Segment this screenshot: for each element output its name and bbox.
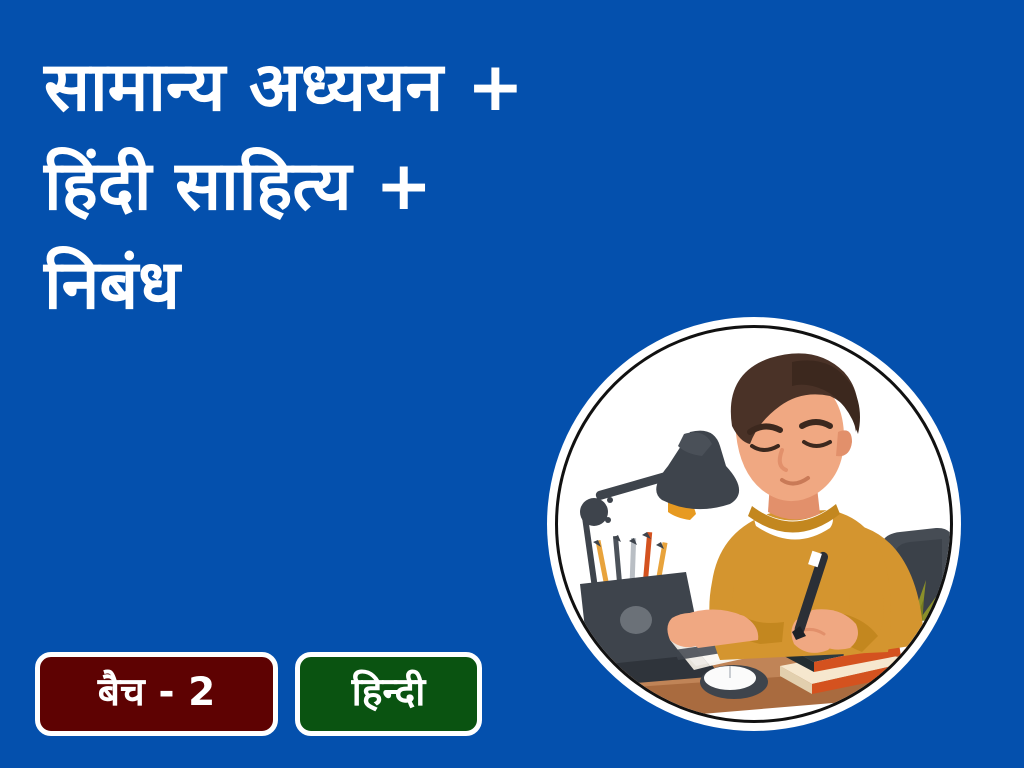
student-studying-illustration (544, 314, 964, 734)
title-line-1: सामान्य अध्ययन + (44, 44, 564, 131)
status-badge-language: हिन्दी (295, 652, 482, 736)
illustration-scene (544, 314, 964, 734)
badge-row: बैच - 2 हिन्दी (35, 652, 482, 736)
status-badge-batch: बैच - 2 (35, 652, 278, 736)
title-line-3: निबंध (44, 242, 564, 329)
badge-batch-label: बैच - 2 (98, 673, 216, 716)
promo-banner: सामान्य अध्ययन + हिंदी साहित्य + निबंध ब… (0, 0, 1024, 768)
page-title: सामान्य अध्ययन + हिंदी साहित्य + निबंध (44, 44, 564, 341)
badge-language-label: हिन्दी (352, 673, 426, 716)
computer-mouse (700, 665, 768, 699)
title-line-2: हिंदी साहित्य + (44, 143, 564, 230)
